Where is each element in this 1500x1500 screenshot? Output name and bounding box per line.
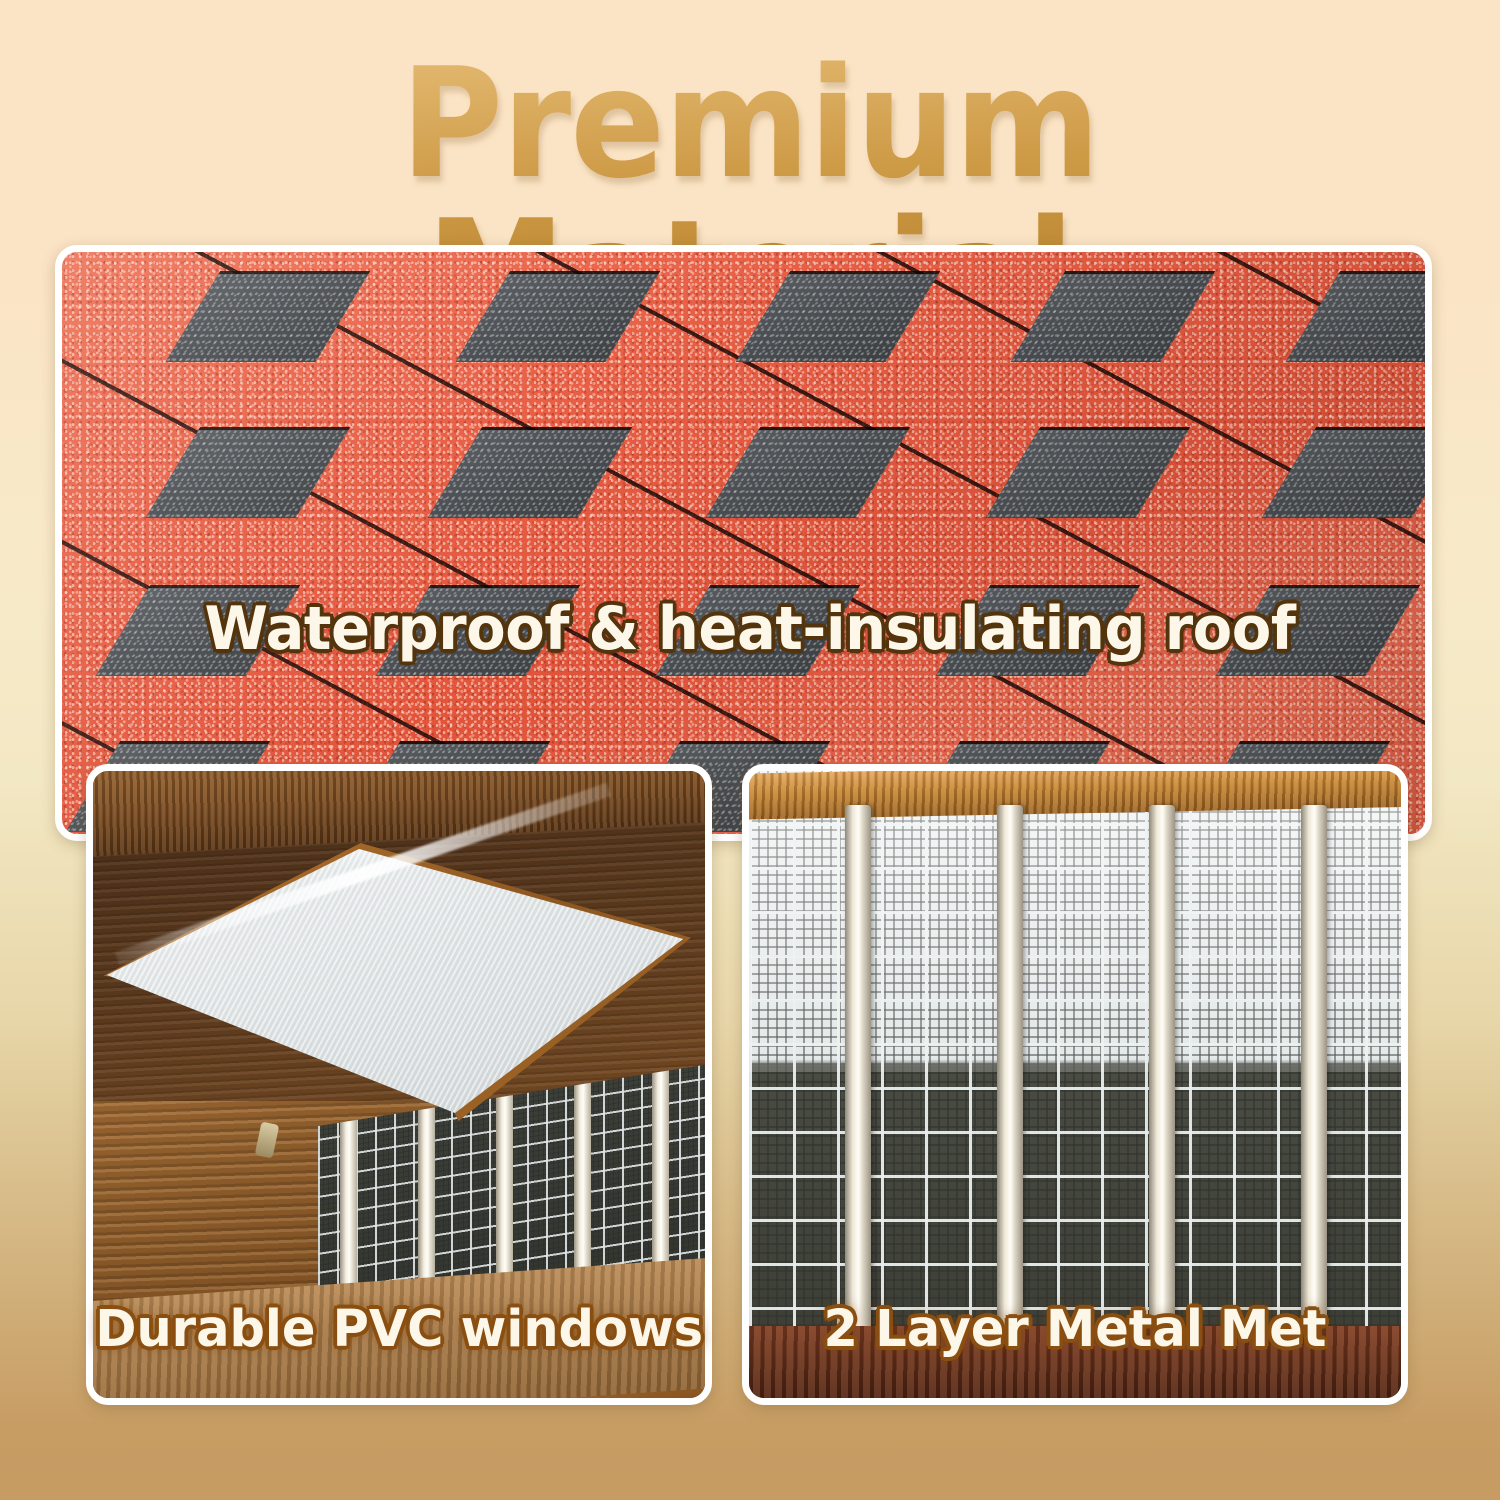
feature-card-roof	[55, 245, 1432, 841]
promo-banner: Premium Material	[0, 0, 1500, 1500]
mesh-vertical-bar	[1149, 805, 1175, 1377]
caption-roof: Waterproof & heat-insulating roof	[30, 594, 1470, 664]
mesh-vertical-bar	[845, 805, 871, 1377]
roof-lighting-overlay	[62, 252, 1425, 834]
roof-photo	[62, 252, 1425, 834]
caption-metal-mesh: 2 Layer Metal Met	[752, 1300, 1398, 1359]
mesh-vertical-bar	[997, 805, 1023, 1377]
caption-pvc-window: Durable PVC windows	[95, 1300, 702, 1359]
mesh-vertical-bar	[1301, 805, 1327, 1377]
